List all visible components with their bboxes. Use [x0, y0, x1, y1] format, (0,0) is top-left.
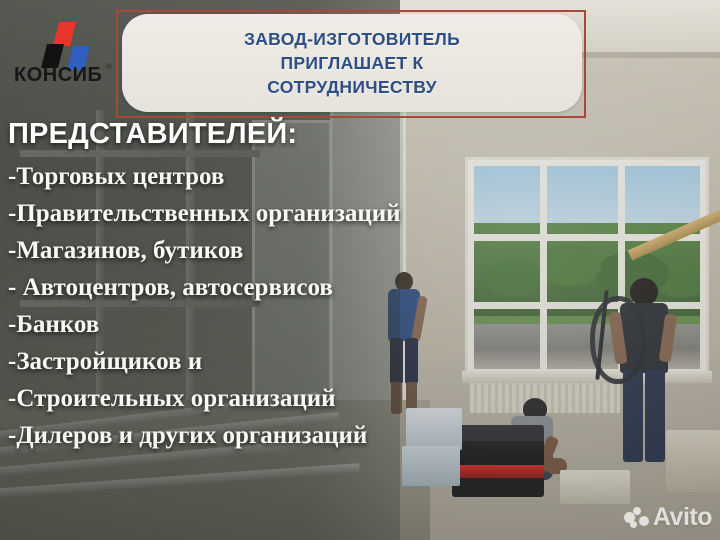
list-item: -Магазинов, бутиков — [8, 232, 408, 269]
photo-material-bag — [406, 408, 462, 450]
avito-logo-icon — [624, 507, 650, 529]
advertisement-poster: КОНСИБ ® ЗАВОД-ИЗГОТОВИТЕЛЬ ПРИГЛАШАЕТ К… — [0, 0, 720, 540]
photo-toolbox — [452, 425, 544, 497]
list-item: -Дилеров и других организаций — [8, 417, 408, 454]
representatives-list: -Торговых центров-Правительственных орга… — [8, 158, 408, 454]
photo-cable-coil — [590, 296, 646, 384]
list-item: -Застройщиков и — [8, 343, 408, 380]
photo-aluminium-profile — [20, 150, 260, 157]
avito-watermark: Avito — [624, 503, 712, 532]
list-item: -Правительственных организаций — [8, 195, 408, 232]
banner-line-1: ЗАВОД-ИЗГОТОВИТЕЛЬ — [244, 27, 460, 51]
list-item: -Строительных организаций — [8, 380, 408, 417]
logo-diamond-red-icon — [53, 22, 76, 46]
list-item: - Автоцентров, автосервисов — [8, 269, 408, 306]
logo-registered-mark: ® — [106, 62, 112, 71]
list-item: -Банков — [8, 306, 408, 343]
brand-logo: КОНСИБ ® — [14, 22, 118, 88]
photo-material-box — [560, 470, 630, 504]
photo-material-box — [666, 430, 720, 492]
logo-wordmark: КОНСИБ — [14, 64, 118, 87]
banner-line-3: СОТРУДНИЧЕСТВУ — [244, 75, 460, 99]
avito-wordmark: Avito — [653, 503, 712, 532]
list-item: -Торговых центров — [8, 158, 408, 195]
headline-banner: ЗАВОД-ИЗГОТОВИТЕЛЬ ПРИГЛАШАЕТ К СОТРУДНИ… — [122, 14, 582, 112]
banner-line-2: ПРИГЛАШАЕТ К — [244, 51, 460, 75]
photo-window-mullion — [540, 160, 547, 375]
photo-material-bag — [402, 446, 460, 486]
banner-text: ЗАВОД-ИЗГОТОВИТЕЛЬ ПРИГЛАШАЕТ К СОТРУДНИ… — [244, 27, 460, 99]
page-title: ПРЕДСТАВИТЕЛЕЙ: — [8, 118, 297, 151]
